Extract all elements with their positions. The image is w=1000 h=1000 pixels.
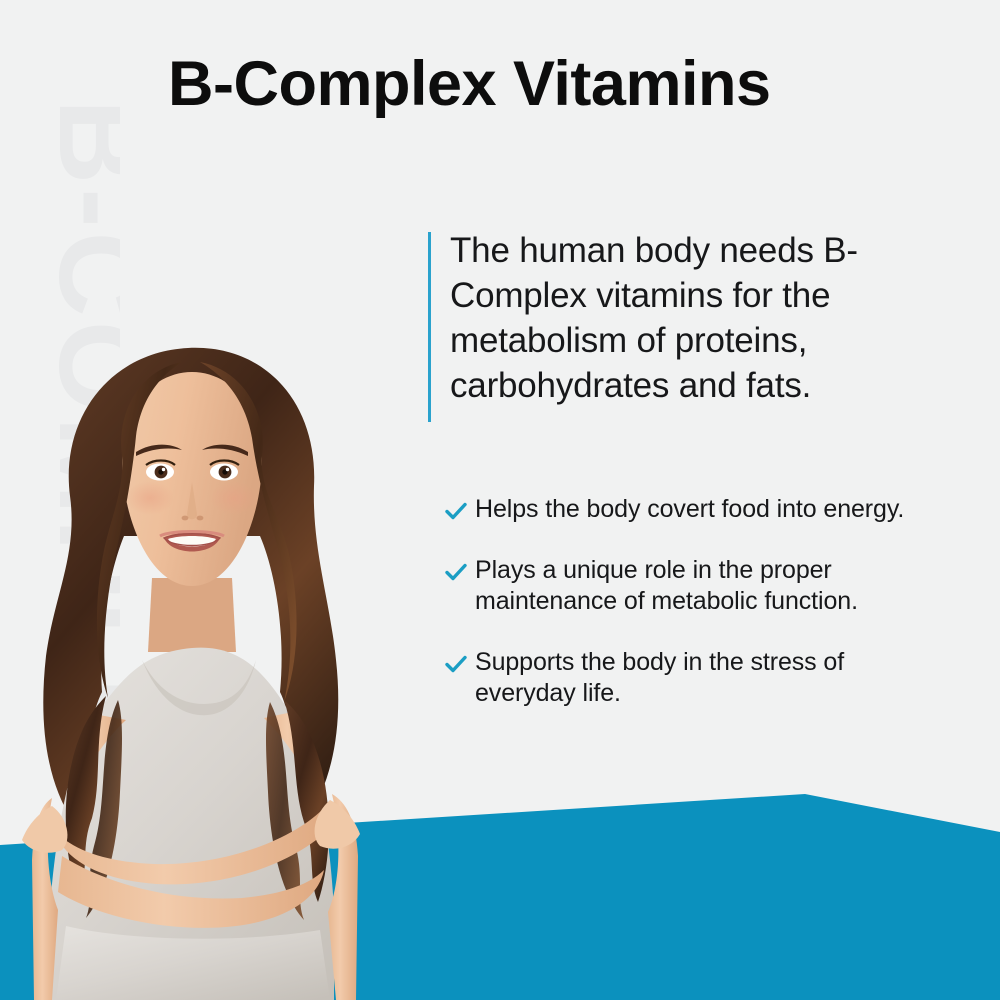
list-item: Supports the body in the stress of every… — [443, 647, 943, 709]
check-icon — [443, 559, 469, 585]
check-icon — [443, 651, 469, 677]
list-item: Helps the body covert food into energy. — [443, 494, 943, 525]
list-item-label: Plays a unique role in the proper mainte… — [475, 555, 943, 617]
list-item-label: Supports the body in the stress of every… — [475, 647, 943, 709]
intro-block: The human body needs B-Complex vitamins … — [428, 228, 958, 408]
intro-paragraph: The human body needs B-Complex vitamins … — [450, 228, 958, 408]
intro-accent-bar — [428, 232, 431, 422]
list-item: Plays a unique role in the proper mainte… — [443, 555, 943, 617]
page-title: B-Complex Vitamins — [168, 50, 868, 118]
benefits-list: Helps the body covert food into energy. … — [443, 494, 943, 709]
check-icon — [443, 498, 469, 524]
poster-canvas: B-COMPLEX — [0, 0, 1000, 1000]
list-item-label: Helps the body covert food into energy. — [475, 494, 904, 525]
model-photo — [0, 300, 424, 1000]
